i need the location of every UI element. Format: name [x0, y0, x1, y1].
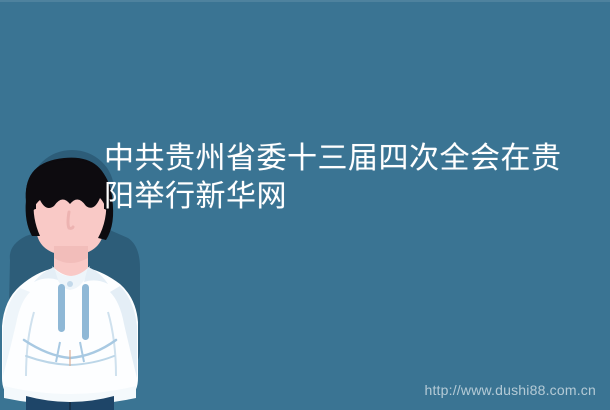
source-url-watermark: http://www.dushi88.com.cn [424, 382, 596, 398]
drawstring-left [58, 284, 65, 332]
news-thumbnail-card: 中共贵州省委十三届四次全会在贵阳举行新华网 http://www.dushi88… [0, 0, 610, 410]
drawstring-eyelet [67, 281, 73, 287]
drawstring-right [82, 284, 89, 340]
headline-text: 中共贵州省委十三届四次全会在贵阳举行新华网 [104, 140, 590, 216]
top-edge-divider [0, 0, 610, 2]
